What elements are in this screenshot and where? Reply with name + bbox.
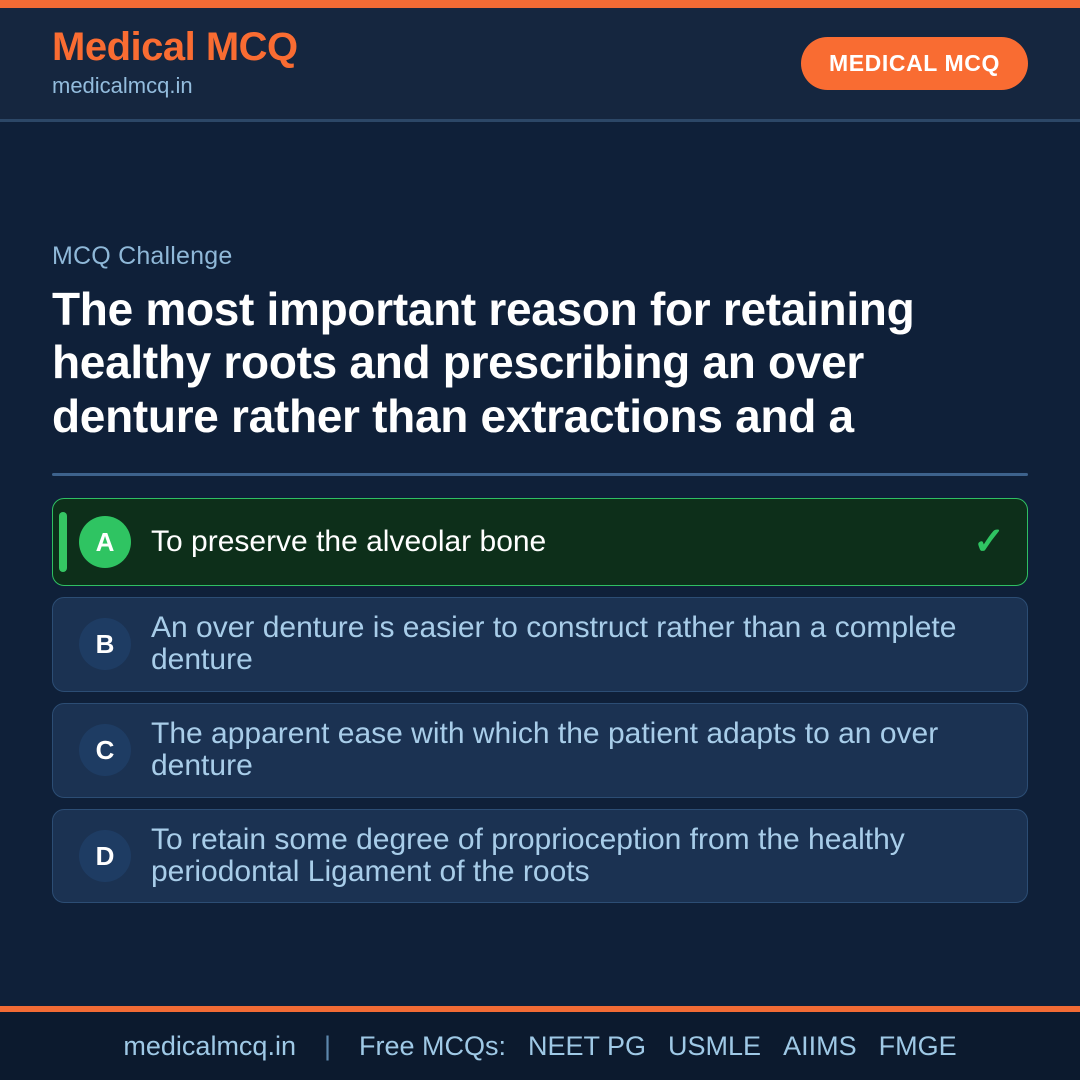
options-list: A To preserve the alveolar bone ✓ B An o…	[52, 498, 1028, 903]
brand-block: Medical MCQ medicalmcq.in	[52, 26, 298, 101]
option-c[interactable]: C The apparent ease with which the patie…	[52, 703, 1028, 798]
option-b-letter: B	[79, 618, 131, 670]
option-d[interactable]: D To retain some degree of proprioceptio…	[52, 809, 1028, 904]
top-accent-bar	[0, 0, 1080, 8]
brand-title: Medical MCQ	[52, 26, 298, 68]
footer-exam-usmle: USMLE	[664, 1031, 765, 1062]
footer-wrap: medicalmcq.in | Free MCQs: NEET PG USMLE…	[0, 1006, 1080, 1080]
page-footer: medicalmcq.in | Free MCQs: NEET PG USMLE…	[0, 1012, 1080, 1080]
option-a-letter: A	[79, 516, 131, 568]
option-b-text: An over denture is easier to construct r…	[151, 612, 961, 677]
option-c-text: The apparent ease with which the patient…	[151, 718, 961, 783]
brand-badge[interactable]: MEDICAL MCQ	[801, 37, 1028, 90]
footer-site[interactable]: medicalmcq.in	[119, 1031, 300, 1062]
footer-free-label: Free MCQs:	[355, 1031, 510, 1062]
option-d-letter: D	[79, 830, 131, 882]
check-icon: ✓	[961, 523, 1005, 561]
footer-separator: |	[314, 1031, 341, 1062]
kicker-label: MCQ Challenge	[52, 242, 1028, 271]
question-content: MCQ Challenge The most important reason …	[0, 122, 1080, 1006]
footer-exam-neetpg: NEET PG	[524, 1031, 650, 1062]
question-text: The most important reason for retaining …	[52, 283, 952, 443]
mcq-card: Medical MCQ medicalmcq.in MEDICAL MCQ MC…	[0, 0, 1080, 1080]
footer-exam-aiims: AIIMS	[779, 1031, 861, 1062]
footer-exam-fmge: FMGE	[875, 1031, 961, 1062]
page-header: Medical MCQ medicalmcq.in MEDICAL MCQ	[0, 8, 1080, 122]
option-c-letter: C	[79, 724, 131, 776]
correct-accent-bar	[59, 512, 67, 572]
option-a[interactable]: A To preserve the alveolar bone ✓	[52, 498, 1028, 586]
brand-subtitle: medicalmcq.in	[52, 72, 298, 101]
option-b[interactable]: B An over denture is easier to construct…	[52, 597, 1028, 692]
section-divider	[52, 473, 1028, 476]
option-a-text: To preserve the alveolar bone	[151, 526, 961, 558]
option-d-text: To retain some degree of proprioception …	[151, 824, 961, 889]
